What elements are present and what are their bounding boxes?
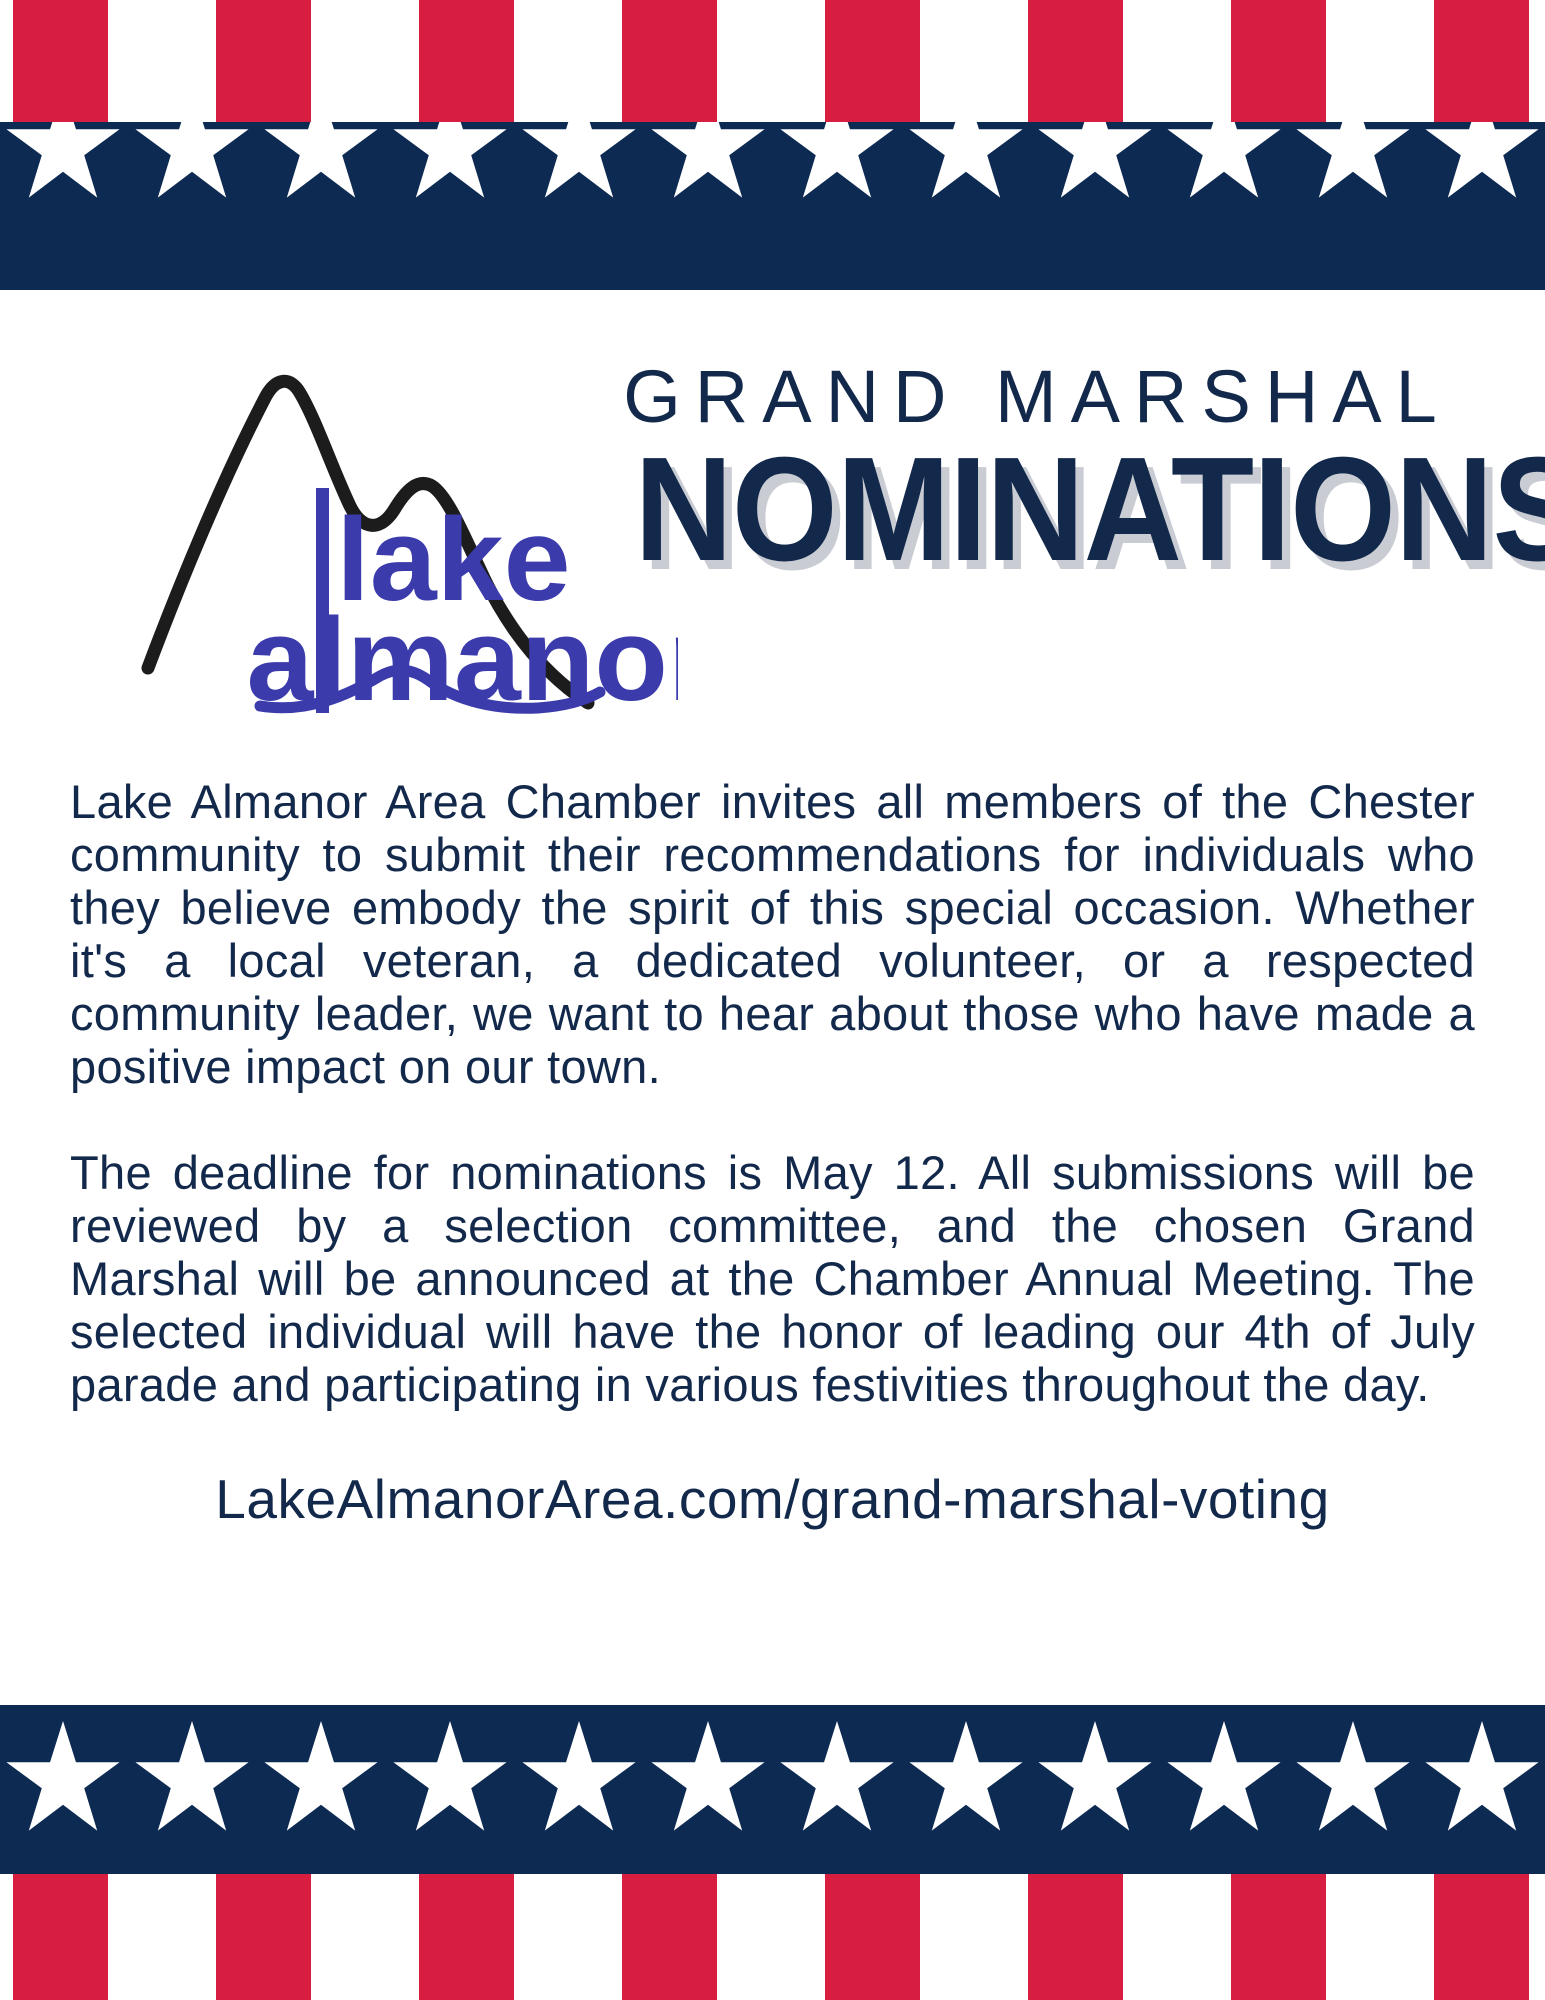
star-icon — [133, 1721, 251, 1833]
paragraph-spacer — [70, 1093, 1475, 1146]
page-title-kicker: GRAND MARSHAL — [600, 360, 1460, 434]
flyer-body: Lake Almanor Area Chamber invites all me… — [70, 775, 1475, 1529]
voting-url[interactable]: LakeAlmanorArea.com/grand-marshal-voting — [70, 1469, 1475, 1529]
bottom-star-row — [0, 1721, 1545, 1833]
top-star-band — [0, 122, 1545, 290]
star-icon — [4, 122, 122, 200]
star-icon — [1036, 122, 1154, 200]
star-icon — [1423, 1721, 1541, 1833]
star-icon — [4, 1721, 122, 1833]
star-icon — [262, 1721, 380, 1833]
top-stripes-decoration — [0, 0, 1545, 124]
top-star-row — [0, 122, 1545, 200]
star-icon — [391, 122, 509, 200]
bottom-stripes-decoration — [0, 1874, 1545, 2000]
star-icon — [1294, 122, 1412, 200]
star-icon — [520, 122, 638, 200]
star-icon — [778, 122, 896, 200]
star-icon — [133, 122, 251, 200]
logo-word-almanor: almanor — [247, 594, 678, 726]
page-title: NOMINATIONS — [634, 440, 1425, 581]
body-paragraph-2: The deadline for nominations is May 12. … — [70, 1146, 1475, 1411]
star-icon — [649, 1721, 767, 1833]
star-icon — [1294, 1721, 1412, 1833]
star-icon — [391, 1721, 509, 1833]
star-icon — [907, 1721, 1025, 1833]
bottom-star-band — [0, 1705, 1545, 1875]
star-icon — [1036, 1721, 1154, 1833]
star-icon — [778, 1721, 896, 1833]
star-icon — [262, 122, 380, 200]
body-paragraph-1: Lake Almanor Area Chamber invites all me… — [70, 775, 1475, 1093]
title-block: GRAND MARSHAL NOMINATIONS — [600, 360, 1460, 581]
flyer-header: lake almanor GRAND MARSHAL NOMINATIONS — [0, 330, 1545, 750]
star-icon — [907, 122, 1025, 200]
lake-almanor-logo: lake almanor — [118, 338, 678, 738]
star-icon — [1165, 1721, 1283, 1833]
star-icon — [520, 1721, 638, 1833]
star-icon — [1165, 122, 1283, 200]
star-icon — [649, 122, 767, 200]
star-icon — [1423, 122, 1541, 200]
